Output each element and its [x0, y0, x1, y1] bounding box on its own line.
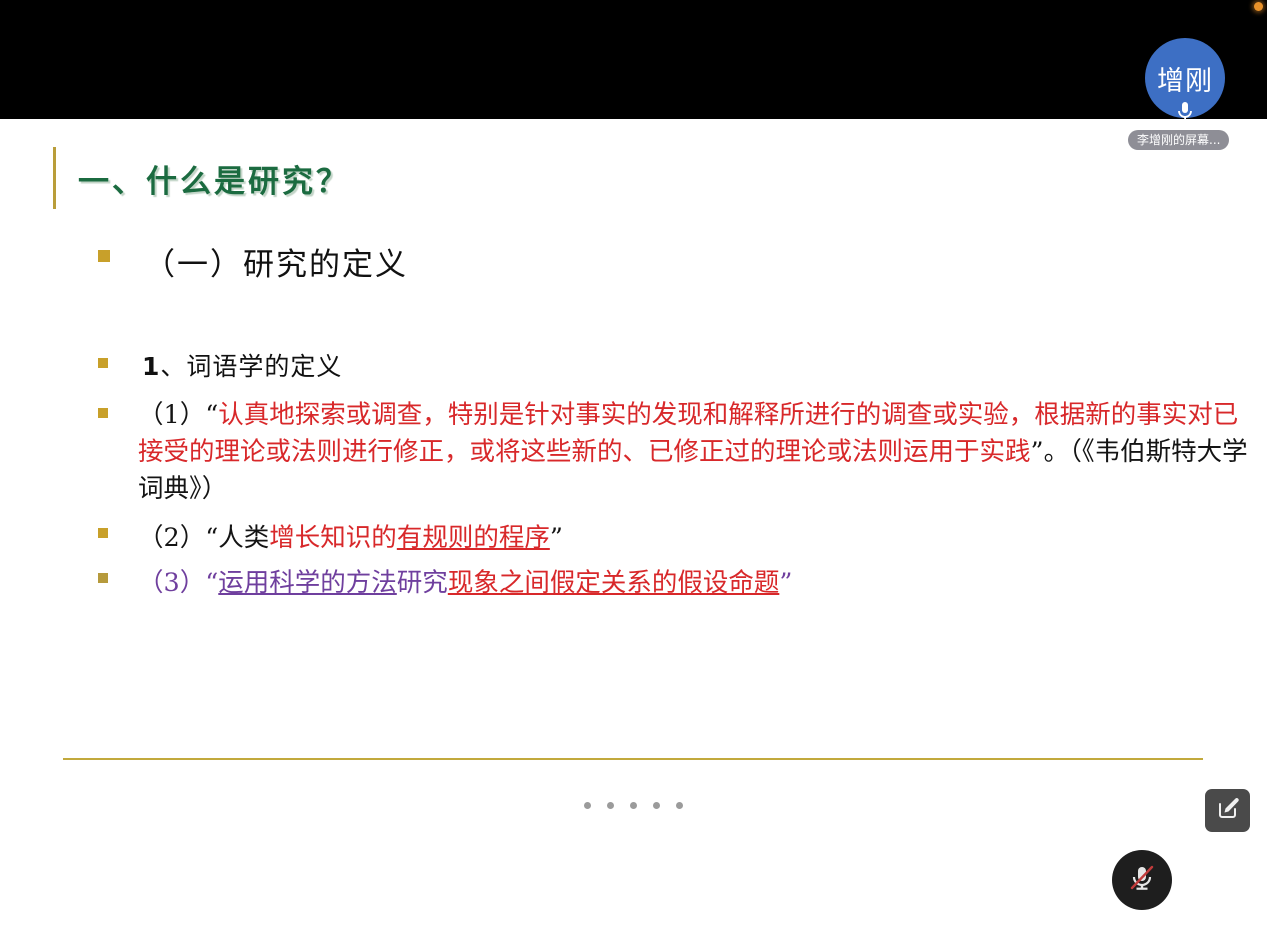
page-dot[interactable] [653, 802, 660, 809]
square-bullet-icon [98, 250, 110, 262]
item-4-purple-underline-part: 运用科学的方法 [218, 568, 397, 598]
microphone-muted-icon [1127, 863, 1157, 898]
bullet-item-1: 1、词语学的定义 [98, 347, 342, 383]
mute-button[interactable] [1112, 850, 1172, 910]
item-2-quote-open: “ [205, 400, 218, 430]
item-2-quote-close: ” [1031, 437, 1044, 467]
item-3-black-part: 人类 [218, 523, 269, 553]
annotate-button[interactable] [1205, 789, 1250, 832]
square-bullet-icon [98, 573, 108, 583]
square-bullet-icon [98, 408, 108, 418]
item-1-number: 1 [142, 352, 160, 381]
bullet-item-2: （1）“认真地探索或调查，特别是针对事实的发现和解释所进行的调查或实验，根据新的… [98, 397, 1248, 508]
avatar-initials: 增刚 [1157, 59, 1213, 98]
zoom-screen-share-view: 增刚 李增刚的屏幕... 一、什么是研究？ （一）研究的定义 1、词语学的定义 … [0, 0, 1267, 950]
footer-divider [63, 758, 1203, 760]
item-3-red-part: 增长知识的 [269, 523, 397, 553]
square-bullet-icon [98, 358, 108, 368]
page-dot[interactable] [584, 802, 591, 809]
item-3-quote-close: ” [550, 523, 563, 553]
item-3-quote-open: “ [205, 523, 218, 553]
annotate-icon [1215, 795, 1241, 826]
item-2-prefix: （1） [138, 400, 205, 430]
screen-share-owner-label: 李增刚的屏幕... [1128, 130, 1229, 150]
item-4-red-underline-part: 现象之间假定关系的假设命题 [448, 568, 780, 598]
page-dot[interactable] [630, 802, 637, 809]
bullet-item-4: （3）“运用科学的方法研究现象之间假定关系的假设命题” [98, 562, 792, 599]
bullet-item-section: （一）研究的定义 [98, 239, 408, 284]
shared-slide: 一、什么是研究？ （一）研究的定义 1、词语学的定义 （1）“认真地探索或调查，… [0, 119, 1267, 950]
item-4-quote-close: ” [779, 568, 792, 598]
section-heading: （一）研究的定义 [144, 239, 408, 284]
item-3-text: （2）“人类增长知识的有规则的程序” [138, 517, 563, 554]
square-bullet-icon [98, 528, 108, 538]
item-3-red-underline-part: 有规则的程序 [397, 523, 550, 553]
item-1-label: 、词语学的定义 [160, 352, 342, 381]
slide-title-block: 一、什么是研究？ [53, 147, 350, 209]
item-2-text: （1）“认真地探索或调查，特别是针对事实的发现和解释所进行的调查或实验，根据新的… [138, 397, 1248, 508]
page-title: 一、什么是研究？ [78, 156, 350, 201]
item-3-prefix: （2） [138, 523, 205, 553]
page-dot[interactable] [607, 802, 614, 809]
item-4-prefix: （3） [138, 568, 205, 598]
item-4-quote-open: “ [205, 568, 218, 598]
item-4-text: （3）“运用科学的方法研究现象之间假定关系的假设命题” [138, 562, 792, 599]
bullet-item-3: （2）“人类增长知识的有规则的程序” [98, 517, 563, 554]
item-4-purple-part: 研究 [397, 568, 448, 598]
page-dot[interactable] [676, 802, 683, 809]
item-1-text: 1、词语学的定义 [142, 347, 342, 383]
slide-page-indicator[interactable] [0, 802, 1267, 809]
recording-indicator-dot [1254, 2, 1263, 11]
